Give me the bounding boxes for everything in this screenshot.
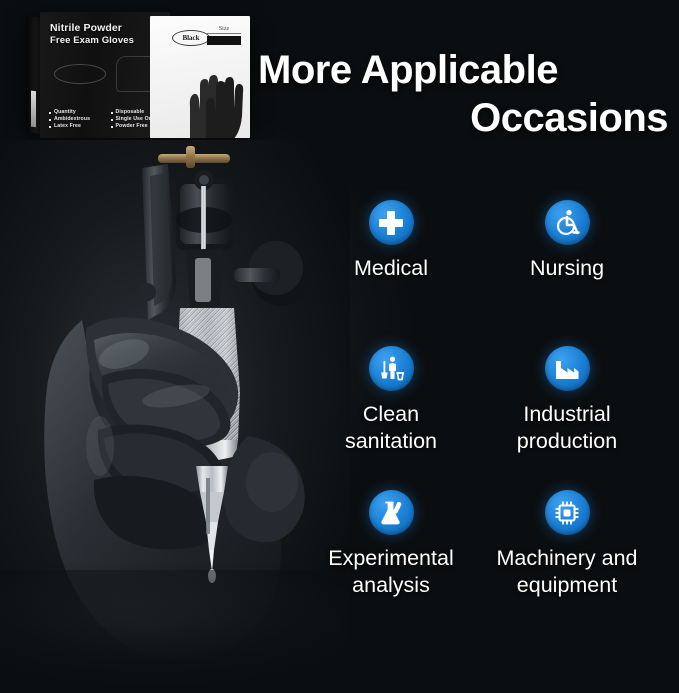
feature-item-clean-sanitation: Clean sanitation — [302, 346, 480, 455]
size-tag-value-bar — [207, 36, 241, 45]
box-feature-bullets: Quantity Ambidextrous Latex Free Disposa… — [49, 109, 165, 130]
box-product-title: Nitrile Powder Free Exam Gloves — [50, 22, 164, 47]
glove-pair-illustration — [176, 60, 246, 138]
tattoo-machine-frame — [138, 146, 313, 320]
headline-line-2: Occasions — [258, 94, 668, 142]
headline-line-1: More Applicable — [258, 46, 668, 94]
box-insert-card: Black Size — [150, 16, 250, 138]
feature-label: Clean sanitation — [302, 401, 480, 455]
box-title-line1: Nitrile Powder — [50, 22, 122, 34]
cleaning-person-icon — [369, 346, 414, 391]
feature-label: Machinery and equipment — [478, 545, 656, 599]
feature-label: Experimental analysis — [302, 545, 480, 599]
use-case-grid: Medical Nursing — [290, 200, 679, 630]
feature-label: Medical — [302, 255, 480, 282]
product-box-image: Nitrile Powder Free Exam Gloves Quantity… — [22, 8, 262, 142]
box-bullets-left-column: Quantity Ambidextrous Latex Free — [49, 109, 104, 130]
feature-item-machinery-equipment: Machinery and equipment — [478, 490, 656, 599]
box-bullet: Latex Free — [49, 123, 104, 130]
feature-item-industrial-production: Industrial production — [478, 346, 656, 455]
microchip-icon — [545, 490, 590, 535]
gloved-hand — [44, 317, 305, 659]
machine-grip — [176, 308, 240, 470]
box-spine-strip — [31, 91, 36, 128]
size-tag-label: Size — [207, 26, 241, 34]
flask-icon — [369, 490, 414, 535]
feature-label: Industrial production — [478, 401, 656, 455]
color-tag: Black — [172, 30, 210, 46]
medical-cross-icon — [369, 200, 414, 245]
box-title-line2: Free Exam Gloves — [50, 35, 134, 46]
product-marketing-poster: Nitrile Powder Free Exam Gloves Quantity… — [0, 0, 679, 693]
box-bullet: Quantity — [49, 109, 104, 116]
page-title: More Applicable Occasions — [258, 46, 668, 142]
feature-label: Nursing — [478, 255, 656, 282]
feature-item-medical: Medical — [302, 200, 480, 282]
wheelchair-icon — [545, 200, 590, 245]
box-spine — [26, 16, 41, 134]
factory-icon — [545, 346, 590, 391]
box-bullet: Ambidextrous — [49, 116, 104, 123]
box-oval-graphic — [54, 64, 106, 84]
feature-item-experimental-analysis: Experimental analysis — [302, 490, 480, 599]
machine-needle-tip — [196, 466, 228, 583]
feature-item-nursing: Nursing — [478, 200, 656, 282]
size-tag: Size — [207, 26, 241, 45]
